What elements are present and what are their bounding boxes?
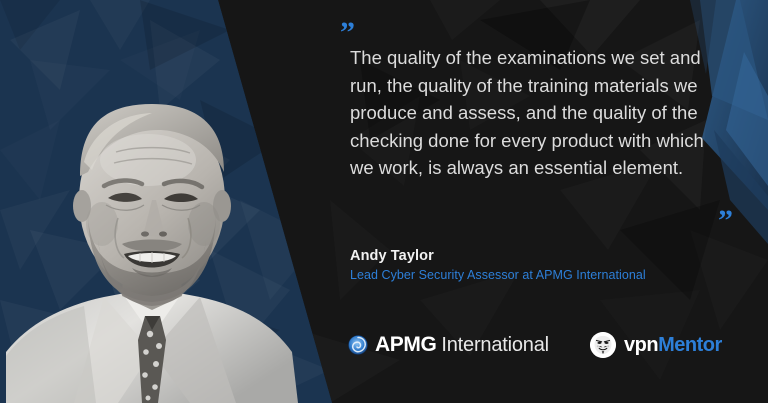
apmg-spiral-icon bbox=[348, 335, 368, 355]
quote-open-icon: ” bbox=[340, 18, 720, 40]
attribution-role[interactable]: Lead Cyber Security Assessor at APMG Int… bbox=[350, 268, 646, 282]
attribution: Andy Taylor Lead Cyber Security Assessor… bbox=[350, 248, 646, 282]
testimonial-card: ” The quality of the examinations we set… bbox=[0, 0, 768, 403]
apmg-international-logo[interactable]: APMG International bbox=[348, 333, 549, 357]
vpnmentor-name-primary: vpn bbox=[624, 334, 658, 357]
quote-block: ” The quality of the examinations we set… bbox=[340, 18, 720, 182]
vpnmentor-logo[interactable]: vpn Mentor bbox=[590, 332, 722, 358]
quote-text: The quality of the examinations we set a… bbox=[350, 44, 718, 182]
apmg-name-light: International bbox=[441, 334, 548, 357]
quote-close-icon: ” bbox=[718, 206, 732, 236]
anonymous-mask-icon bbox=[590, 332, 616, 358]
vpnmentor-name-accent: Mentor bbox=[658, 334, 722, 357]
attribution-name: Andy Taylor bbox=[350, 248, 646, 264]
apmg-name-bold: APMG bbox=[375, 333, 436, 357]
logo-bar: APMG International bbox=[340, 325, 740, 371]
